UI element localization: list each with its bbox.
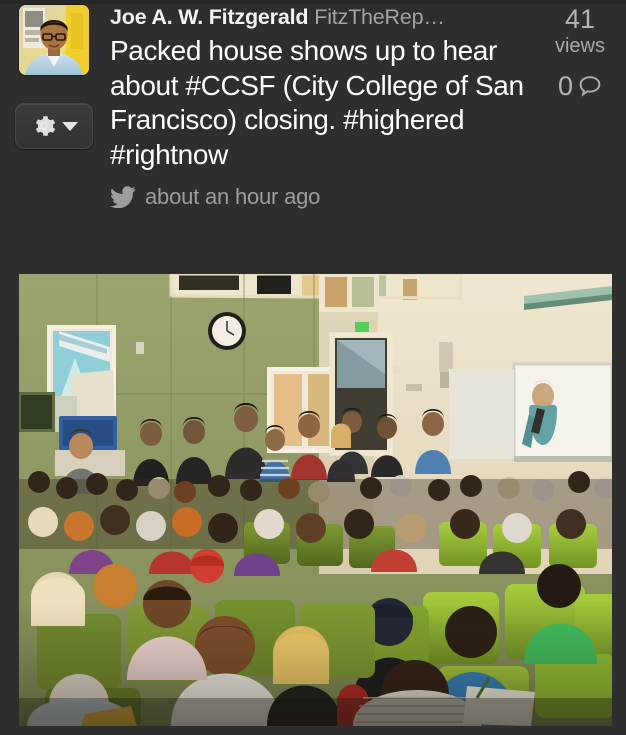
post-card: Joe A. W. Fitzgerald FitzTheRep… Packed … [0,0,626,735]
post-content: Joe A. W. Fitzgerald FitzTheRep… Packed … [110,0,550,210]
post-text: Packed house shows up to hear about #CCS… [110,34,550,172]
views-count: 41 [544,4,616,34]
twitter-bird-icon [110,186,136,208]
views-label: views [544,34,616,58]
post-stats: 41 views 0 [544,4,616,100]
gear-icon [31,113,57,139]
post-meta: about an hour ago [110,184,550,210]
avatar-image [19,5,89,75]
author-display-name[interactable]: Joe A. W. Fitzgerald [110,5,308,29]
post-photo[interactable] [19,274,612,726]
comments-count: 0 [558,72,573,100]
avatar[interactable] [19,5,89,75]
post-header: Joe A. W. Fitzgerald FitzTheRep… Packed … [0,0,626,262]
author-line: Joe A. W. Fitzgerald FitzTheRep… [110,0,550,32]
post-options-button[interactable] [15,103,93,149]
author-handle[interactable]: FitzTheRep… [314,5,444,29]
post-timestamp: about an hour ago [145,184,320,210]
speech-bubble-icon [578,75,602,97]
post-photo-image [19,274,612,726]
comments-stat[interactable]: 0 [544,72,616,100]
caret-down-icon [62,122,78,131]
